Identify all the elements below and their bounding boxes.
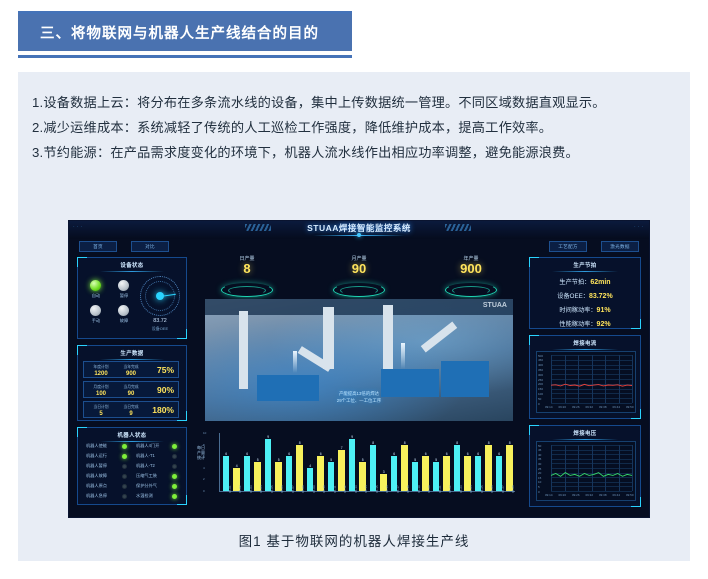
bar-value-label: 5 [274, 458, 284, 462]
panel-device-status-title: 设备状态 [78, 258, 186, 269]
video-overlay-line2: 29个工位、一工位工序 [205, 398, 513, 404]
oee-gauge-caption: 设备OEE [135, 326, 185, 332]
bar-category-label: 08-07 [291, 485, 295, 493]
robot-status-indicator [172, 494, 177, 499]
rhythm-oee-key: 设备OEE： [557, 293, 589, 300]
panel-production-rhythm: 生产节拍 生产节拍：62min 设备OEE：83.72% 时间稼动率：91% 性… [529, 257, 641, 329]
bar-category-label: 08-24 [469, 485, 473, 493]
bar-chart-bars: 6465956846579583685656866868 [221, 433, 515, 491]
year-plan-value: 1200 [87, 370, 115, 378]
rhythm-line-time: 时间稼动率：91% [530, 305, 640, 314]
nav-button-compare[interactable]: 对比 [131, 241, 169, 252]
bar-value-label: 6 [221, 452, 231, 456]
chart-series-path [537, 352, 635, 412]
rhythm-oee-value: 83.72% [589, 293, 613, 300]
panel-robot-status-title: 机器人状态 [78, 428, 186, 439]
kpi-yearly: 年产量 900 [441, 255, 501, 276]
bar-category-label: 08-09 [312, 485, 316, 493]
kpi-daily: 日产量 8 [217, 255, 277, 276]
robot-status-label: 机器人运行 [86, 453, 107, 459]
year-done-value: 900 [117, 370, 145, 378]
body-text: 1.设备数据上云：将分布在多条流水线的设备，集中上传数据统一管理。不同区域数据直… [32, 90, 680, 165]
robot-status-indicator [122, 474, 127, 479]
bar-value-label: 8 [452, 441, 462, 445]
daily-output-bar-chart: 每日产量统计 0246810 6465956846579583685656866… [197, 427, 519, 507]
bar-category-label: 08-10 [322, 485, 326, 493]
robot-status-label: 机器人使能 [86, 443, 107, 449]
bar-chart-ytick: 0 [203, 489, 205, 493]
bar-category-label: 08-15 [375, 485, 379, 493]
panel-weld-voltage-underline [552, 439, 618, 440]
bar-value-label: 9 [263, 435, 273, 439]
lamp-pause[interactable] [118, 280, 129, 291]
oee-gauge-value: 83.72 [135, 318, 185, 324]
bar-category-label: 08-14 [364, 485, 368, 493]
kpi-yearly-value: 900 [441, 262, 501, 276]
panel-production-data: 生产数据 年度计划 1200 当年完成 900 75% 月度计划 [77, 345, 187, 421]
bar-value-label: 3 [379, 470, 389, 474]
lamp-auto[interactable] [90, 280, 101, 291]
bar-category-label: 08-20 [427, 485, 431, 493]
bar-chart-ytick: 2 [203, 477, 205, 481]
bar-category-label: 08-18 [406, 485, 410, 493]
bar-chart-yaxis-line [219, 433, 220, 491]
lamp-auto-label: 自动 [87, 293, 105, 299]
bar-value-label: 5 [358, 458, 368, 462]
oee-gauge-hub [156, 292, 164, 300]
rhythm-takt-value: 62min [590, 279, 610, 286]
lamp-fault[interactable] [118, 305, 129, 316]
weld-current-chart: 50045040035030025020015010050009:1409:20… [536, 351, 636, 413]
bar-value-label: 9 [347, 435, 357, 439]
panel-weld-current-title: 焊接电流 [530, 336, 640, 347]
rhythm-time-key: 时间稼动率： [559, 307, 596, 314]
title-dot [357, 233, 361, 237]
bar-category-label: 08-06 [280, 485, 284, 493]
bar-value-label: 5 [431, 458, 441, 462]
bar-category-label: 08-27 [501, 485, 505, 493]
video-brand-watermark: STUAA [483, 302, 507, 309]
bar-category-label: 08-11 [333, 486, 337, 493]
kpi-monthly-ring-inner [340, 286, 378, 295]
video-weld-spark-2 [401, 343, 405, 369]
panel-device-status-underline [100, 271, 165, 272]
kpi-daily-ring-inner [228, 286, 266, 295]
video-weld-spark-1 [293, 351, 297, 373]
bar-category-label: 08-08 [301, 485, 305, 493]
lamp-fault-label: 故障 [115, 318, 133, 324]
robot-status-indicator [172, 474, 177, 479]
month-plan-value: 100 [87, 390, 115, 398]
dashboard-figure: ··· ··· STUAA焊接智能监控系统 首页 对比 工艺配方 激光数据 设备… [68, 220, 650, 518]
bar-category-label: 08-02 [238, 485, 242, 493]
bar-chart-ytick: 6 [203, 454, 205, 458]
heading-rule-bottom [18, 55, 352, 58]
production-row-year: 年度计划 1200 当年完成 900 75% [83, 361, 179, 378]
nav-button-home[interactable]: 首页 [79, 241, 117, 252]
body-paragraph-1: 1.设备数据上云：将分布在多条流水线的设备，集中上传数据统一管理。不同区域数据直… [32, 90, 680, 115]
rhythm-takt-key: 生产节拍： [559, 279, 590, 286]
bar-category-label: 08-28 [511, 485, 515, 493]
bar-value-label: 6 [442, 452, 452, 456]
video-column-1 [239, 311, 248, 389]
production-row-day: 当日计划 5 当日完成 9 180% [83, 401, 179, 418]
bar-value-label: 6 [284, 452, 294, 456]
bar-category-label: 08-03 [249, 485, 253, 493]
rhythm-line-oee: 设备OEE：83.72% [530, 291, 640, 300]
kpi-monthly: 月产量 90 [329, 255, 389, 276]
bar-value-label: 5 [410, 458, 420, 462]
bar-value-label: 5 [253, 458, 263, 462]
bar-value-label: 8 [295, 441, 305, 445]
panel-device-status: 设备状态 自动 暂停 手动 故障 83.72 设备OEE [77, 257, 187, 339]
body-paragraph-2: 2.减少运维成本：系统减轻了传统的人工巡检工作强度，降低维护成本，提高工作效率。 [32, 115, 680, 140]
robot-status-indicator [122, 464, 127, 469]
day-done-value: 9 [117, 410, 145, 418]
rhythm-perf-value: 92% [597, 321, 611, 328]
bar-value-label: 7 [337, 446, 347, 450]
bar-value-label: 8 [400, 441, 410, 445]
panel-weld-current-underline [552, 349, 618, 350]
bar-chart-ytick: 4 [203, 466, 205, 470]
bar-value-label: 4 [232, 464, 242, 468]
panel-weld-current: 焊接电流 50045040035030025020015010050009:14… [529, 335, 641, 419]
year-pct: 75% [157, 365, 174, 375]
bar-value-label: 8 [505, 441, 515, 445]
bar [265, 439, 272, 491]
robot-status-label: 机器人暂停 [86, 463, 107, 469]
live-video-feed[interactable]: 产能提高13倍的焊达 29个工位、一工位工序 STUAA [205, 299, 513, 421]
bar-category-label: 08-12 [343, 485, 347, 493]
oee-gauge [140, 276, 180, 316]
robot-status-label: 机器人4门开 [136, 443, 159, 449]
panel-rhythm-title: 生产节拍 [530, 258, 640, 269]
figure-caption: 图1 基于物联网的机器人焊接生产线 [18, 530, 690, 550]
bar-value-label: 6 [463, 452, 473, 456]
bar-chart-ytick: 10 [203, 431, 206, 435]
panel-rhythm-underline [552, 271, 618, 272]
bar-value-label: 6 [494, 452, 504, 456]
panel-weld-voltage-title: 焊接电压 [530, 426, 640, 437]
production-row-month: 月度计划 100 当月完成 90 90% [83, 381, 179, 398]
rhythm-perf-key: 性能稼动率： [559, 321, 596, 328]
heading-title: 三、将物联网与机器人生产线结合的目的 [18, 14, 352, 51]
kpi-yearly-ring-inner [452, 286, 490, 295]
bar-category-label: 08-19 [417, 485, 421, 493]
robot-status-indicator [172, 464, 177, 469]
robot-status-indicator [122, 454, 127, 459]
bar-value-label: 8 [368, 441, 378, 445]
month-done-value: 90 [117, 390, 145, 398]
bar-chart-ytick: 8 [203, 443, 205, 447]
weld-voltage-chart: 5045403530252015105009:1409:2009:2609:32… [536, 441, 636, 501]
kpi-monthly-value: 90 [329, 262, 389, 276]
panel-robot-status-underline [100, 441, 165, 442]
bar [349, 439, 356, 491]
nav-button-laser-data[interactable]: 激光数据 [601, 241, 639, 252]
bar-category-label: 08-05 [270, 485, 274, 493]
bar-value-label: 5 [326, 458, 336, 462]
robot-status-label: 保护分外气 [136, 483, 157, 489]
bar-value-label: 6 [316, 452, 326, 456]
bar-category-label: 08-22 [448, 485, 452, 493]
bar-category-label: 08-13 [354, 485, 358, 493]
slide-page: 三、将物联网与机器人生产线结合的目的 1.设备数据上云：将分布在多条流水线的设备… [0, 0, 708, 579]
robot-status-label: 机器人原点 [86, 483, 107, 489]
bar-value-label: 6 [242, 452, 252, 456]
rhythm-line-perf: 性能稼动率：92% [530, 319, 640, 328]
video-ceiling-beam [205, 299, 513, 315]
rhythm-time-value: 91% [597, 307, 611, 314]
robot-status-label: 水温检测 [136, 493, 153, 499]
bar-category-label: 08-01 [228, 485, 232, 493]
bar-value-label: 4 [305, 464, 315, 468]
robot-status-indicator [172, 444, 177, 449]
month-pct: 90% [157, 385, 174, 395]
bar-category-label: 08-23 [459, 485, 463, 493]
lamp-manual-label: 手动 [87, 318, 105, 324]
lamp-manual[interactable] [90, 305, 101, 316]
robot-status-label: 机器人急停 [86, 493, 107, 499]
bar-value-label: 8 [484, 441, 494, 445]
panel-production-underline [100, 359, 165, 360]
panel-robot-status: 机器人状态 机器人使能机器人4门开机器人运行机器人-T1机器人暂停机器人-T2机… [77, 427, 187, 505]
video-overlay-line1: 产能提高13倍的焊达 [205, 391, 513, 397]
content-card: 1.设备数据上云：将分布在多条流水线的设备，集中上传数据统一管理。不同区域数据直… [18, 72, 690, 561]
bar-category-label: 08-25 [480, 485, 484, 493]
bar-value-label: 6 [421, 452, 431, 456]
day-pct: 180% [152, 405, 174, 415]
chart-series-path [537, 442, 635, 500]
bar-category-label: 08-04 [259, 485, 263, 493]
bar-category-label: 08-26 [490, 485, 494, 493]
robot-status-indicator [122, 494, 127, 499]
robot-status-indicator [122, 444, 127, 449]
body-paragraph-3: 3.节约能源：在产品需求度变化的环境下，机器人流水线作出相应功率调整，避免能源浪… [32, 140, 680, 165]
bar-category-label: 08-21 [438, 485, 442, 493]
panel-weld-voltage: 焊接电压 5045403530252015105009:1409:2009:26… [529, 425, 641, 507]
robot-status-label: 机器人故障 [86, 473, 107, 479]
lamp-pause-label: 暂停 [115, 293, 133, 299]
nav-button-recipe[interactable]: 工艺配方 [549, 241, 587, 252]
robot-status-label: 机器人-T2 [136, 463, 155, 469]
kpi-daily-value: 8 [217, 262, 277, 276]
bar-value-label: 6 [473, 452, 483, 456]
section-heading: 三、将物联网与机器人生产线结合的目的 [18, 11, 352, 58]
robot-status-indicator [172, 484, 177, 489]
robot-status-label: 机器人-T1 [136, 453, 155, 459]
robot-status-indicator [122, 484, 127, 489]
bar-category-label: 08-17 [396, 485, 400, 493]
rhythm-line-takt: 生产节拍：62min [530, 277, 640, 286]
bar-category-label: 08-16 [385, 485, 389, 493]
robot-status-label: 压缩气工装 [136, 473, 157, 479]
bar-value-label: 6 [389, 452, 399, 456]
panel-production-title: 生产数据 [78, 346, 186, 357]
robot-status-indicator [172, 454, 177, 459]
day-plan-value: 5 [87, 410, 115, 418]
